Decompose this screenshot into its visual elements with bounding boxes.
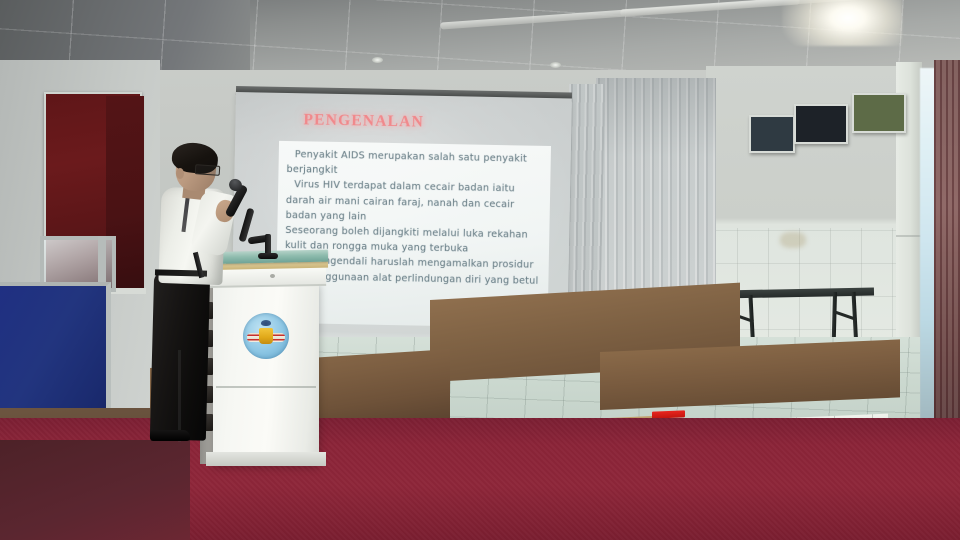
wall-plaque-middle	[794, 104, 848, 144]
wall-smudge	[780, 232, 806, 248]
speaker-shoe	[150, 430, 190, 441]
podium-panel-divider	[216, 386, 316, 388]
microphone-stand-base	[258, 253, 278, 259]
speaker-leg-separation	[178, 350, 181, 442]
podium-emblem-icon	[243, 313, 289, 359]
podium-drawer-knob	[270, 274, 275, 278]
glasses-icon	[195, 164, 221, 176]
wall-plaque-right-text	[856, 97, 902, 129]
speaker-ear	[176, 168, 184, 179]
wall-plaque-middle-text	[798, 108, 844, 140]
carpet-shadowed-left	[0, 440, 190, 540]
podium-base	[206, 452, 326, 466]
emblem-bird-shape	[261, 320, 271, 326]
ceiling-downlight-icon	[372, 57, 383, 63]
slide-title: PENGENALAN	[303, 111, 424, 131]
ceiling-light-flare	[782, 0, 902, 46]
pillar-tile-line	[896, 235, 922, 237]
right-edge-curtain	[934, 60, 960, 480]
photo-scene: PENGENALAN Penyakit AIDS merupakan salah…	[0, 0, 960, 540]
emblem-crest-shape	[259, 328, 273, 344]
wall-plaque-left-text	[753, 119, 791, 149]
podium	[213, 282, 319, 464]
wall-plaque-right	[852, 93, 906, 133]
ceiling-downlight-icon	[550, 62, 561, 68]
wall-plaque-left	[749, 115, 795, 153]
